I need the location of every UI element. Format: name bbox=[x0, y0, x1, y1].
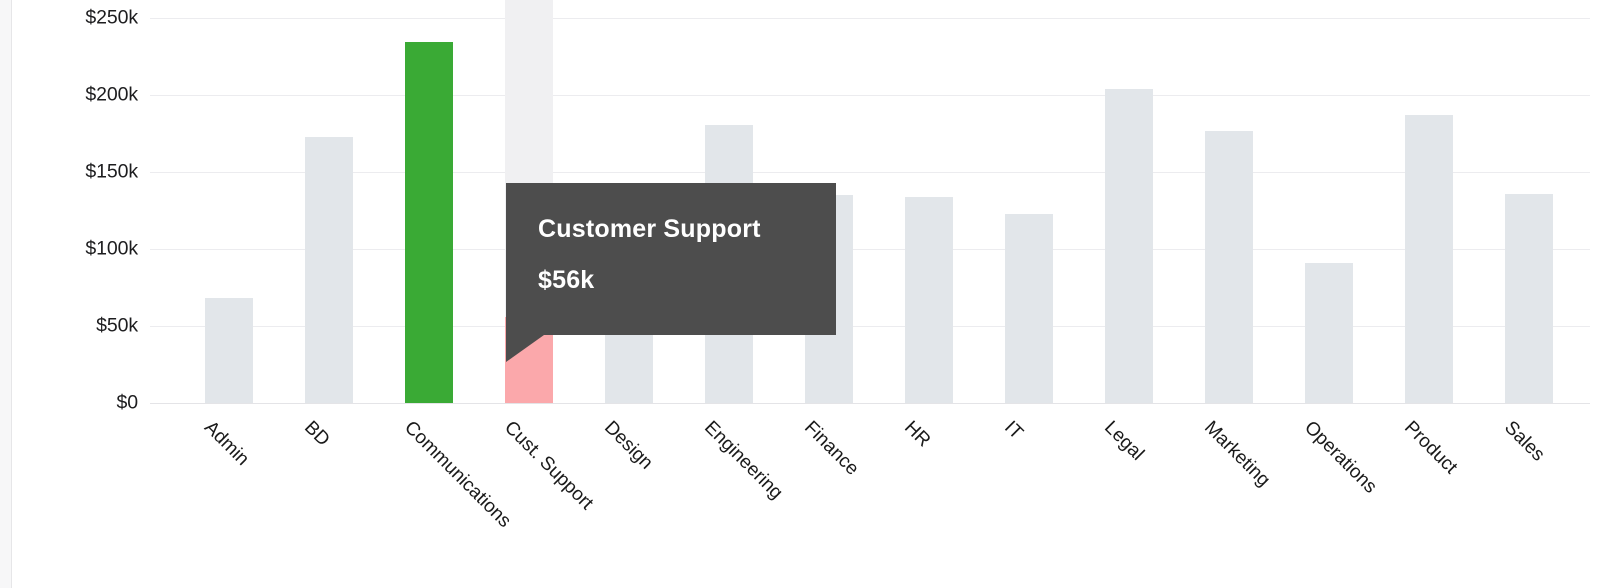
bar-admin[interactable] bbox=[205, 298, 253, 403]
page-gutter-strip bbox=[0, 0, 12, 588]
x-axis-tick-label: Product bbox=[1399, 417, 1461, 479]
bar-operations[interactable] bbox=[1305, 263, 1353, 403]
x-axis-tick-label: Cust. Support bbox=[499, 417, 597, 515]
x-axis-tick-label: Design bbox=[599, 417, 656, 474]
bar-communications[interactable] bbox=[405, 42, 453, 403]
x-axis-tick-label: BD bbox=[299, 417, 333, 451]
gridline bbox=[150, 249, 1590, 250]
y-axis-tick-label: $50k bbox=[18, 315, 138, 338]
y-axis-tick-label: $200k bbox=[18, 84, 138, 107]
bar-product[interactable] bbox=[1405, 115, 1453, 403]
bar-marketing[interactable] bbox=[1205, 131, 1253, 403]
x-axis-tick-label: HR bbox=[899, 417, 934, 452]
tooltip-title: Customer Support bbox=[538, 217, 836, 242]
chart-tooltip: Customer Support $56k bbox=[506, 183, 836, 335]
gridline bbox=[150, 18, 1590, 19]
bar-bd[interactable] bbox=[305, 137, 353, 403]
bar-hr[interactable] bbox=[905, 197, 953, 403]
x-axis-tick-label: Sales bbox=[1499, 417, 1548, 466]
x-axis-tick-label: Engineering bbox=[699, 417, 786, 504]
x-axis: AdminBDCommunicationsCust. SupportDesign… bbox=[150, 403, 1590, 588]
gridline bbox=[150, 172, 1590, 173]
chart-plot-area bbox=[150, 0, 1590, 403]
gridline bbox=[150, 326, 1590, 327]
y-axis-tick-label: $0 bbox=[18, 392, 138, 415]
y-axis-tick-label: $250k bbox=[18, 7, 138, 30]
bar-legal[interactable] bbox=[1105, 89, 1153, 403]
bar-chart-screenshot: $0$50k$100k$150k$200k$250k AdminBDCommun… bbox=[0, 0, 1600, 588]
x-axis-tick-label: Operations bbox=[1299, 417, 1380, 498]
tooltip-tail-icon bbox=[506, 335, 544, 362]
x-axis-tick-label: Marketing bbox=[1199, 417, 1274, 492]
tooltip-value: $56k bbox=[538, 268, 836, 293]
gridline bbox=[150, 95, 1590, 96]
y-axis-tick-label: $150k bbox=[18, 161, 138, 184]
x-axis-tick-label: Legal bbox=[1099, 417, 1147, 465]
x-axis-tick-label: Admin bbox=[199, 417, 253, 471]
x-axis-tick-label: Finance bbox=[799, 417, 862, 480]
x-axis-tick-label: IT bbox=[999, 417, 1026, 444]
x-axis-tick-label: Communications bbox=[399, 417, 515, 533]
bar-sales[interactable] bbox=[1505, 194, 1553, 403]
y-axis-tick-label: $100k bbox=[18, 238, 138, 261]
bar-it[interactable] bbox=[1005, 214, 1053, 403]
